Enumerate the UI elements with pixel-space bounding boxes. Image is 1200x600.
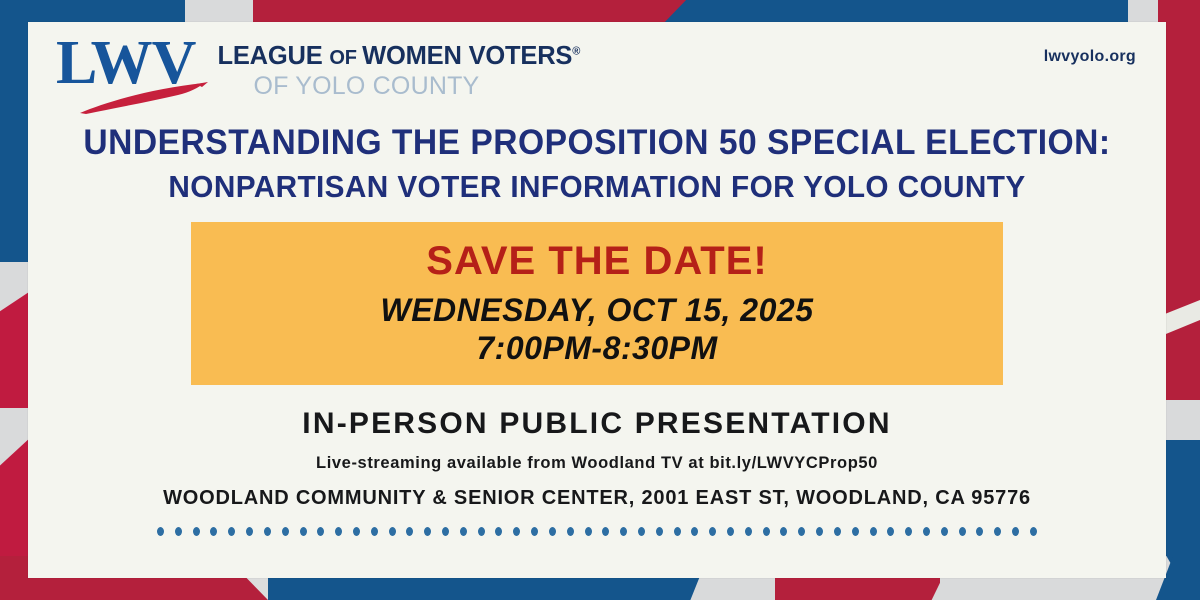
lwv-swoosh-icon bbox=[78, 81, 210, 115]
divider-dot bbox=[674, 527, 681, 536]
divider-dot bbox=[620, 527, 627, 536]
presentation-type: IN-PERSON PUBLIC PRESENTATION bbox=[50, 407, 1144, 441]
divider-dot bbox=[406, 527, 413, 536]
divider-dot bbox=[994, 527, 1001, 536]
divider-dot bbox=[567, 527, 574, 536]
venue-address: WOODLAND COMMUNITY & SENIOR CENTER, 2001… bbox=[50, 487, 1144, 510]
wordmark-of: OF bbox=[329, 47, 362, 69]
divider-dot bbox=[834, 527, 841, 536]
divider-dot bbox=[549, 527, 556, 536]
divider-dot bbox=[371, 527, 378, 536]
divider-dot bbox=[638, 527, 645, 536]
save-the-date-panel: SAVE THE DATE! WEDNESDAY, OCT 15, 2025 7… bbox=[191, 222, 1003, 385]
divider-dot bbox=[976, 527, 983, 536]
divider-dot bbox=[905, 527, 912, 536]
divider-dot bbox=[246, 527, 253, 536]
divider-dot bbox=[317, 527, 324, 536]
divider-dot bbox=[282, 527, 289, 536]
divider-dot bbox=[959, 527, 966, 536]
lwv-wordmark-line2: OF YOLO COUNTY bbox=[217, 72, 580, 101]
divider-dot bbox=[745, 527, 752, 536]
divider-dot bbox=[157, 527, 164, 536]
flyer-card: LWV LEAGUE OF WOMEN VOTERS® OF YOLO COUN… bbox=[28, 22, 1166, 578]
divider-dot bbox=[780, 527, 787, 536]
divider-dot bbox=[816, 527, 823, 536]
page-title: UNDERSTANDING THE PROPOSITION 50 SPECIAL… bbox=[50, 123, 1144, 205]
header-row: LWV LEAGUE OF WOMEN VOTERS® OF YOLO COUN… bbox=[50, 22, 1144, 101]
divider-dot bbox=[335, 527, 342, 536]
divider-dot bbox=[763, 527, 770, 536]
dotted-divider bbox=[157, 527, 1037, 536]
divider-dot bbox=[727, 527, 734, 536]
divider-dot bbox=[175, 527, 182, 536]
divider-dot bbox=[870, 527, 877, 536]
divider-dot bbox=[424, 527, 431, 536]
wordmark-league: LEAGUE bbox=[217, 42, 329, 70]
divider-dot bbox=[585, 527, 592, 536]
event-time: 7:00PM-8:30PM bbox=[476, 332, 717, 366]
lwv-monogram: LWV bbox=[50, 34, 195, 93]
divider-dot bbox=[210, 527, 217, 536]
lwv-wordmark-line1: LEAGUE OF WOMEN VOTERS® bbox=[217, 42, 580, 71]
divider-dot bbox=[923, 527, 930, 536]
divider-dot bbox=[1030, 527, 1037, 536]
divider-dot bbox=[353, 527, 360, 536]
divider-dot bbox=[691, 527, 698, 536]
divider-dot bbox=[887, 527, 894, 536]
divider-dot bbox=[602, 527, 609, 536]
divider-dot bbox=[852, 527, 859, 536]
event-details: IN-PERSON PUBLIC PRESENTATION Live-strea… bbox=[50, 407, 1144, 510]
divider-dot bbox=[798, 527, 805, 536]
registered-trademark-icon: ® bbox=[572, 46, 580, 58]
divider-dot bbox=[389, 527, 396, 536]
headline-line-1: UNDERSTANDING THE PROPOSITION 50 SPECIAL… bbox=[72, 123, 1122, 163]
divider-dot bbox=[264, 527, 271, 536]
divider-dot bbox=[300, 527, 307, 536]
divider-dot bbox=[478, 527, 485, 536]
divider-dot bbox=[193, 527, 200, 536]
lwv-logo: LWV LEAGUE OF WOMEN VOTERS® OF YOLO COUN… bbox=[50, 34, 580, 101]
website-url[interactable]: lwvyolo.org bbox=[1044, 34, 1144, 66]
divider-dot bbox=[656, 527, 663, 536]
divider-dot bbox=[941, 527, 948, 536]
event-date: WEDNESDAY, OCT 15, 2025 bbox=[381, 294, 814, 328]
headline-line-2: NONPARTISAN VOTER INFORMATION FOR YOLO C… bbox=[72, 169, 1122, 205]
divider-dot bbox=[709, 527, 716, 536]
divider-dot bbox=[460, 527, 467, 536]
divider-dot bbox=[228, 527, 235, 536]
divider-dot bbox=[513, 527, 520, 536]
wordmark-women-voters: WOMEN VOTERS bbox=[362, 42, 572, 70]
divider-dot bbox=[531, 527, 538, 536]
divider-dot bbox=[442, 527, 449, 536]
lwv-wordmark: LEAGUE OF WOMEN VOTERS® OF YOLO COUNTY bbox=[195, 34, 580, 101]
divider-dot bbox=[1012, 527, 1019, 536]
save-the-date-heading: SAVE THE DATE! bbox=[426, 241, 767, 281]
livestream-note[interactable]: Live-streaming available from Woodland T… bbox=[50, 454, 1144, 473]
divider-dot bbox=[495, 527, 502, 536]
